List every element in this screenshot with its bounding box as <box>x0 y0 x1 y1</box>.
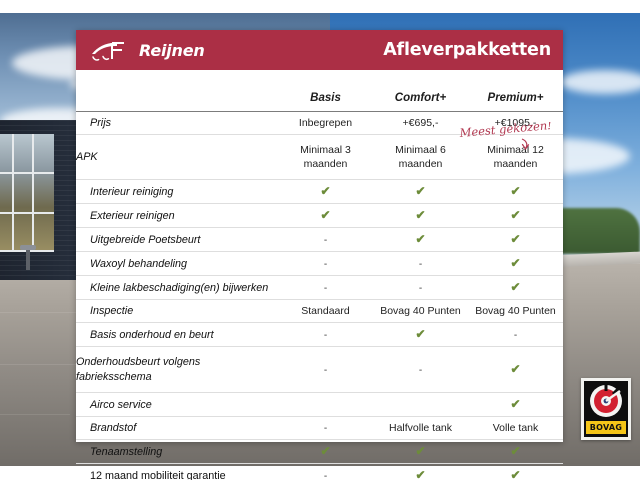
screenshot-root: Reijnen Afleverpakketten Meest gekozen! <box>0 0 640 480</box>
check-icon: ✔ <box>373 180 468 204</box>
table-head: Basis Comfort+ Premium+ <box>76 70 563 112</box>
row-label: Exterieur reinigen <box>76 204 278 228</box>
check-icon: ✔ <box>468 347 563 393</box>
check-icon: ✔ <box>468 204 563 228</box>
not-included-dash: - <box>373 347 468 393</box>
check-icon: ✔ <box>468 440 563 464</box>
cell-value: Inbegrepen <box>278 112 373 135</box>
check-icon: ✔ <box>373 440 468 464</box>
table-row: Airco service✔ <box>76 393 563 417</box>
brochure-card: Reijnen Afleverpakketten Meest gekozen! <box>76 30 563 442</box>
letterbox-top <box>0 0 640 13</box>
table-body: PrijsInbegrepen+€695,-+€1095,-APKMinimaa… <box>76 112 563 480</box>
cell-value: Bovag 40 Punten <box>373 300 468 323</box>
table-row: Waxoyl behandeling--✔ <box>76 252 563 276</box>
bovag-emblem-icon <box>587 383 625 419</box>
row-label: Kleine lakbeschadiging(en) bijwerken <box>76 276 278 300</box>
bovag-label: BOVAG <box>590 423 623 432</box>
car-swoosh-logo-icon <box>90 37 136 63</box>
cloud <box>560 70 640 94</box>
cell-value <box>278 393 373 417</box>
card-header: Reijnen Afleverpakketten <box>76 30 563 70</box>
check-icon: ✔ <box>468 276 563 300</box>
table-row: PrijsInbegrepen+€695,-+€1095,- <box>76 112 563 135</box>
cell-value: Minimaal 3 maanden <box>278 135 373 180</box>
not-included-dash: - <box>373 252 468 276</box>
card-body: Meest gekozen! Basis Comfort+ Premium+ <box>76 70 563 442</box>
not-included-dash: - <box>278 252 373 276</box>
check-icon: ✔ <box>468 228 563 252</box>
brand-name: Reijnen <box>139 41 205 60</box>
check-icon: ✔ <box>373 464 468 480</box>
row-label: APK <box>76 135 278 180</box>
cell-value <box>373 393 468 417</box>
window-mullion <box>0 212 54 214</box>
row-label: 12 maand mobiliteit garantie <box>76 464 278 480</box>
row-label: Waxoyl behandeling <box>76 252 278 276</box>
bovag-badge-inner: BOVAG <box>584 381 628 437</box>
row-label: Basis onderhoud en beurt <box>76 323 278 347</box>
column-header-basis: Basis <box>278 70 373 112</box>
check-icon: ✔ <box>278 180 373 204</box>
table-row: Tenaamstelling✔✔✔ <box>76 440 563 464</box>
cell-value: Halfvolle tank <box>373 417 468 440</box>
cell-value: Standaard <box>278 300 373 323</box>
pavement-line <box>0 414 70 415</box>
table-row: Exterieur reinigen✔✔✔ <box>76 204 563 228</box>
cell-value: Minimaal 6 maanden <box>373 135 468 180</box>
table-header-row: Basis Comfort+ Premium+ <box>76 70 563 112</box>
not-included-dash: - <box>278 323 373 347</box>
packages-comparison-table: Basis Comfort+ Premium+ PrijsInbegrepen+… <box>76 70 563 480</box>
check-icon: ✔ <box>278 204 373 228</box>
check-icon: ✔ <box>373 204 468 228</box>
column-header-comfort: Comfort+ <box>373 70 468 112</box>
not-included-dash: - <box>373 276 468 300</box>
row-label: Inspectie <box>76 300 278 323</box>
row-label: Airco service <box>76 393 278 417</box>
not-included-dash: - <box>278 464 373 480</box>
check-icon: ✔ <box>278 440 373 464</box>
window-mullion <box>32 134 34 252</box>
table-row: Interieur reiniging✔✔✔ <box>76 180 563 204</box>
cell-value: +€695,- <box>373 112 468 135</box>
check-icon: ✔ <box>468 252 563 276</box>
check-icon: ✔ <box>373 228 468 252</box>
check-icon: ✔ <box>468 393 563 417</box>
row-label: Onderhoudsbeurt volgens fabrieksschema <box>76 347 278 393</box>
bollard <box>26 248 30 270</box>
window-mullion <box>0 172 54 174</box>
cell-value: Minimaal 12 maanden <box>468 135 563 180</box>
bovag-wordmark: BOVAG <box>586 421 626 434</box>
bollard <box>20 245 36 250</box>
building-glass-facade <box>0 134 54 252</box>
table-row: 12 maand mobiliteit garantie-✔✔ <box>76 464 563 480</box>
table-row: Uitgebreide Poetsbeurt-✔✔ <box>76 228 563 252</box>
column-header-premium: Premium+ <box>468 70 563 112</box>
table-row: Basis onderhoud en beurt-✔- <box>76 323 563 347</box>
cell-value: Bovag 40 Punten <box>468 300 563 323</box>
row-label: Uitgebreide Poetsbeurt <box>76 228 278 252</box>
table-row: InspectieStandaardBovag 40 PuntenBovag 4… <box>76 300 563 323</box>
page-title: Afleverpakketten <box>383 40 551 60</box>
table-row: Onderhoudsbeurt volgens fabrieksschema--… <box>76 347 563 393</box>
check-icon: ✔ <box>468 180 563 204</box>
not-included-dash: - <box>278 347 373 393</box>
not-included-dash: - <box>278 417 373 440</box>
check-icon: ✔ <box>468 464 563 480</box>
window-mullion <box>12 134 14 252</box>
not-included-dash: - <box>278 276 373 300</box>
column-header-blank <box>76 70 278 112</box>
row-label: Prijs <box>76 112 278 135</box>
cell-value: +€1095,- <box>468 112 563 135</box>
table-row: Kleine lakbeschadiging(en) bijwerken--✔ <box>76 276 563 300</box>
row-label: Brandstof <box>76 417 278 440</box>
not-included-dash: - <box>278 228 373 252</box>
row-label: Interieur reiniging <box>76 180 278 204</box>
cell-value: Volle tank <box>468 417 563 440</box>
check-icon: ✔ <box>373 323 468 347</box>
table-row: Brandstof-Halfvolle tankVolle tank <box>76 417 563 440</box>
row-label: Tenaamstelling <box>76 440 278 464</box>
bovag-badge: BOVAG <box>581 378 631 440</box>
reijnen-logo: Reijnen <box>90 37 205 63</box>
not-included-dash: - <box>468 323 563 347</box>
table-row: APKMinimaal 3 maandenMinimaal 6 maandenM… <box>76 135 563 180</box>
